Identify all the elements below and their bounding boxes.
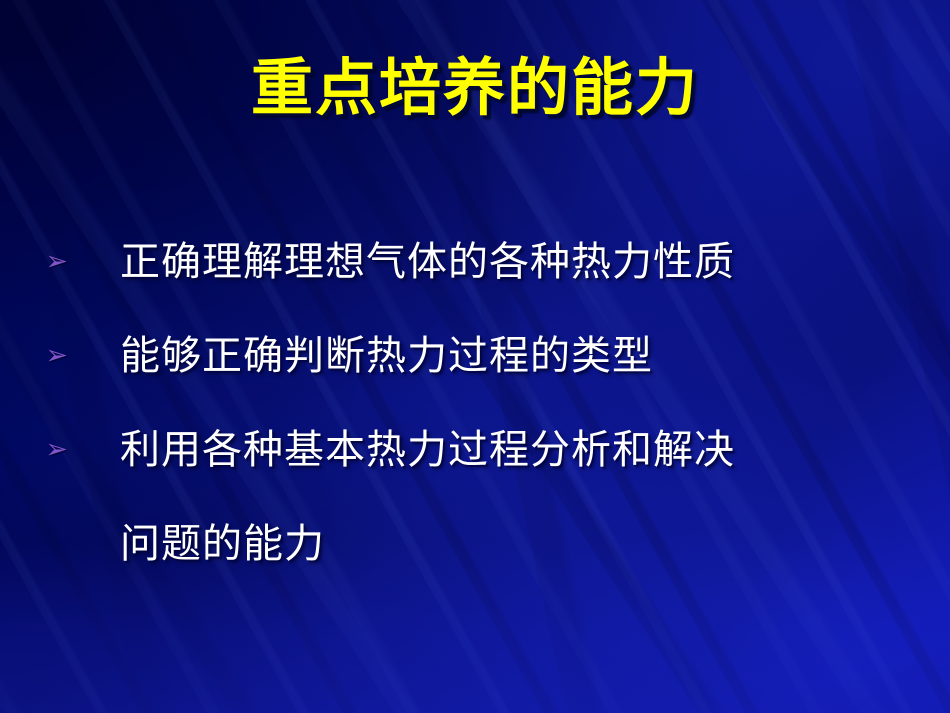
bullet-item-2-text: 能够正确判断热力过程的类型 [76,330,950,382]
bullet-item-3-wrapped-line: 问题的能力 [0,518,950,612]
bullet-item-1: ➢ 正确理解理想气体的各种热力性质 [0,236,950,330]
slide-title: 重点培养的能力 [0,58,950,120]
arrow-bullet-icon: ➢ [0,330,76,382]
arrow-bullet-icon: ➢ [0,236,76,288]
bullet-item-1-text: 正确理解理想气体的各种热力性质 [76,236,950,288]
arrow-bullet-icon: ➢ [0,424,76,476]
bullet-item-3-text-line2: 问题的能力 [76,518,950,570]
bullet-item-3-text: 利用各种基本热力过程分析和解决 [76,424,950,476]
presentation-slide: 重点培养的能力 ➢ 正确理解理想气体的各种热力性质 ➢ 能够正确判断热力过程的类… [0,0,950,713]
bullet-item-3: ➢ 利用各种基本热力过程分析和解决 [0,424,950,518]
bullet-item-2: ➢ 能够正确判断热力过程的类型 [0,330,950,424]
slide-content: 重点培养的能力 ➢ 正确理解理想气体的各种热力性质 ➢ 能够正确判断热力过程的类… [0,0,950,713]
bullet-list: ➢ 正确理解理想气体的各种热力性质 ➢ 能够正确判断热力过程的类型 ➢ 利用各种… [0,236,950,612]
